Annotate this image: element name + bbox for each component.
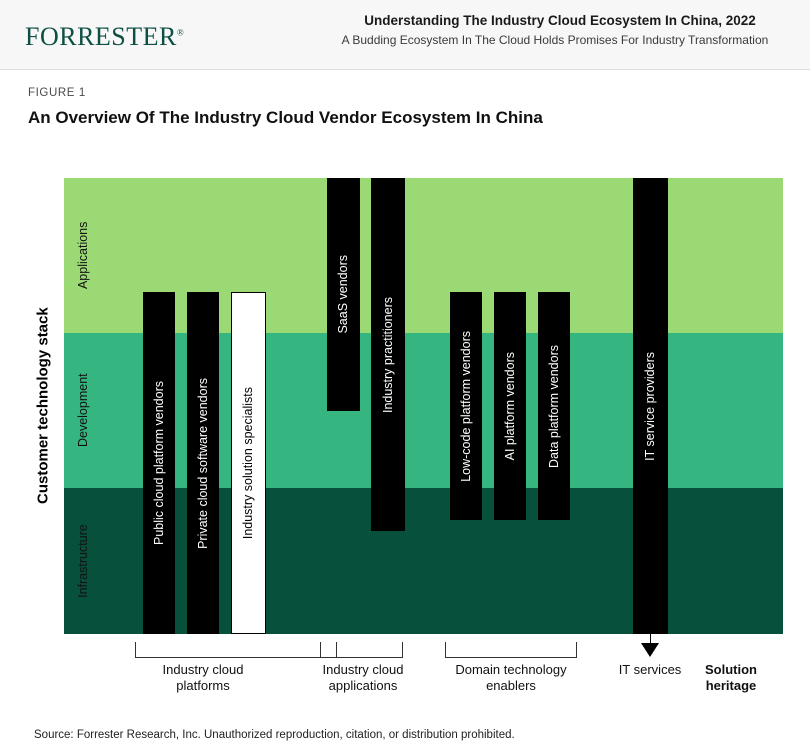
bar-industry-practitioners[interactable]: Industry practitioners [371, 178, 405, 531]
bracket-domain-technology-enablers [445, 642, 577, 658]
bar-label: Industry practitioners [382, 297, 395, 413]
bar-label: Industry solution specialists [242, 387, 255, 539]
bar-label: Private cloud software vendors [197, 378, 210, 549]
source-note: Source: Forrester Research, Inc. Unautho… [34, 729, 515, 741]
report-title: Understanding The Industry Cloud Ecosyst… [330, 13, 790, 30]
bar-low-code-platform-vendors[interactable]: Low-code platform vendors [450, 292, 482, 520]
bar-public-cloud-platform-vendors[interactable]: Public cloud platform vendors [143, 292, 175, 634]
bracket-industry-cloud-applications [320, 642, 403, 658]
bar-data-platform-vendors[interactable]: Data platform vendors [538, 292, 570, 520]
bar-label: Public cloud platform vendors [153, 381, 166, 545]
bar-it-service-providers[interactable]: IT service providers [633, 178, 668, 634]
figure-label: FIGURE 1 [28, 87, 86, 99]
bar-label: AI platform vendors [504, 352, 517, 460]
bar-industry-solution-specialists[interactable]: Industry solution specialists [231, 292, 266, 634]
it-services-arrow-head-icon [641, 643, 659, 657]
chart-plot-area: ApplicationsDevelopmentInfrastructurePub… [64, 178, 783, 634]
group-label-line1: Solution [641, 662, 810, 678]
bar-ai-platform-vendors[interactable]: AI platform vendors [494, 292, 526, 520]
logo-text: FORRESTER [25, 22, 177, 51]
group-label-line2: platforms [113, 678, 293, 694]
bar-label: SaaS vendors [337, 255, 350, 334]
y-axis-title: Customer technology stack [30, 178, 56, 634]
bracket-industry-cloud-platforms [135, 642, 337, 658]
bar-saas-vendors[interactable]: SaaS vendors [327, 178, 360, 411]
band-label-infrastructure: Infrastructure [68, 488, 98, 634]
bar-private-cloud-software-vendors[interactable]: Private cloud software vendors [187, 292, 219, 634]
bar-label: Low-code platform vendors [460, 331, 473, 482]
bar-label: IT service providers [644, 352, 657, 461]
group-label-line1: Industry cloud [113, 662, 293, 678]
group-label-industry-cloud-platforms: Industry cloudplatforms [113, 662, 293, 695]
logo-registered-mark: ® [177, 27, 184, 37]
group-label-line2: enablers [421, 678, 601, 694]
figure-title: An Overview Of The Industry Cloud Vendor… [28, 108, 543, 128]
bar-label: Data platform vendors [548, 345, 561, 468]
forrester-logo: FORRESTER® [25, 22, 184, 52]
band-label-applications: Applications [68, 178, 98, 333]
page-header: FORRESTER® Understanding The Industry Cl… [0, 0, 810, 70]
group-label-line2: heritage [641, 678, 810, 694]
report-subtitle: A Budding Ecosystem In The Cloud Holds P… [310, 33, 800, 48]
band-label-development: Development [68, 333, 98, 488]
group-label-solution-heritage: Solutionheritage [641, 662, 810, 695]
